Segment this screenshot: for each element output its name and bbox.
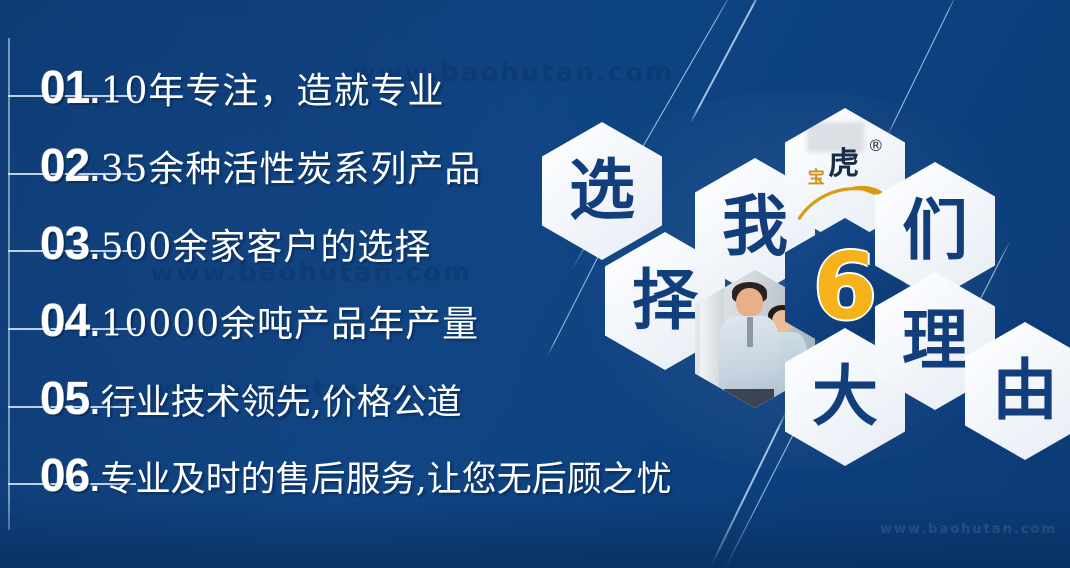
list-item-separator: . bbox=[90, 384, 99, 423]
list-item-text: 500余家客户的选择 bbox=[101, 230, 432, 266]
list-item-text: 10年专注，造就专业 bbox=[101, 74, 445, 110]
hex-glyph: 选 bbox=[569, 158, 635, 224]
hex-glyph-number-six: 6 bbox=[813, 241, 877, 333]
list-item-number: 01 bbox=[40, 64, 89, 110]
hex-cell-xuan: 选 bbox=[542, 122, 662, 260]
list-item: 06 . 专业及时的售后服务,让您无后顾之忧 bbox=[40, 452, 672, 500]
list-item-number: 05 bbox=[40, 375, 89, 421]
list-item: 04 . 10000余吨产品年产量 bbox=[40, 297, 479, 345]
list-item-separator: . bbox=[90, 306, 99, 345]
hex-glyph: 我 bbox=[722, 194, 788, 260]
list-item: 02 . 35余种活性炭系列产品 bbox=[40, 142, 481, 190]
hex-glyph: 大 bbox=[812, 364, 878, 430]
hex-glyph: 理 bbox=[902, 308, 968, 374]
logo-char-hu: 虎 bbox=[828, 138, 859, 183]
list-item-separator: . bbox=[90, 229, 99, 268]
list-item-number: 02 bbox=[40, 142, 89, 188]
list-item-separator: . bbox=[90, 73, 99, 112]
list-item-number: 06 bbox=[40, 452, 89, 498]
list-item-separator: . bbox=[90, 461, 99, 500]
bottom-vignette bbox=[0, 498, 1070, 568]
hex-glyph: 们 bbox=[902, 198, 968, 264]
list-item: 03 . 500余家客户的选择 bbox=[40, 220, 431, 268]
logo-char-bao: 宝 bbox=[808, 163, 825, 188]
list-item-text: 专业及时的售后服务,让您无后顾之忧 bbox=[101, 463, 672, 498]
list-item-text: 35余种活性炭系列产品 bbox=[101, 152, 482, 188]
list-item-number: 03 bbox=[40, 220, 89, 266]
hex-glyph: 由 bbox=[992, 358, 1058, 424]
list-item-text: 10000余吨产品年产量 bbox=[101, 307, 480, 343]
promo-banner: www.baohutan.com www.baohutan.com www.ba… bbox=[0, 0, 1070, 568]
list-item-separator: . bbox=[90, 151, 99, 190]
registered-trademark-icon: ® bbox=[868, 136, 884, 155]
honeycomb-graphic: 选 择 我 bbox=[520, 100, 1070, 440]
list-item-text: 行业技术领先,价格公道 bbox=[101, 386, 462, 421]
list-item: 01 . 10年专注，造就专业 bbox=[40, 64, 444, 112]
list-item: 05 . 行业技术领先,价格公道 bbox=[40, 375, 462, 423]
hex-glyph: 择 bbox=[632, 268, 698, 334]
list-item-number: 04 bbox=[40, 297, 89, 343]
